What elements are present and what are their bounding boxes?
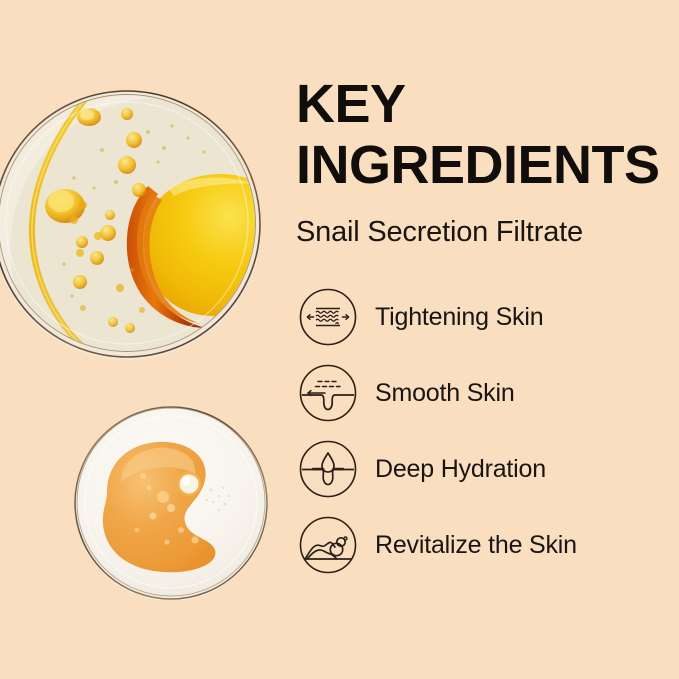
petri-dish-bottom bbox=[63, 404, 279, 600]
benefits-list: Tightening Skin bbox=[299, 288, 669, 574]
revitalize-skin-icon bbox=[299, 516, 357, 574]
benefit-label: Revitalize the Skin bbox=[375, 531, 577, 560]
benefit-label: Tightening Skin bbox=[375, 303, 543, 332]
benefit-item-revitalize-skin: Revitalize the Skin bbox=[299, 516, 669, 574]
benefit-label: Deep Hydration bbox=[375, 455, 546, 484]
tightening-skin-icon bbox=[299, 288, 357, 346]
petri-dish-top bbox=[0, 90, 272, 362]
subtitle-ingredient-name: Snail Secretion Filtrate bbox=[296, 216, 583, 249]
page-title: KEY INGREDIENTS bbox=[296, 74, 656, 196]
benefit-item-tightening-skin: Tightening Skin bbox=[299, 288, 669, 346]
deep-hydration-icon bbox=[299, 440, 357, 498]
product-key-ingredients-graphic: KEY INGREDIENTS Snail Secretion Filtrate bbox=[0, 0, 679, 679]
smooth-skin-icon bbox=[299, 364, 357, 422]
benefit-item-deep-hydration: Deep Hydration bbox=[299, 440, 669, 498]
benefit-label: Smooth Skin bbox=[375, 379, 515, 408]
benefit-item-smooth-skin: Smooth Skin bbox=[299, 364, 669, 422]
